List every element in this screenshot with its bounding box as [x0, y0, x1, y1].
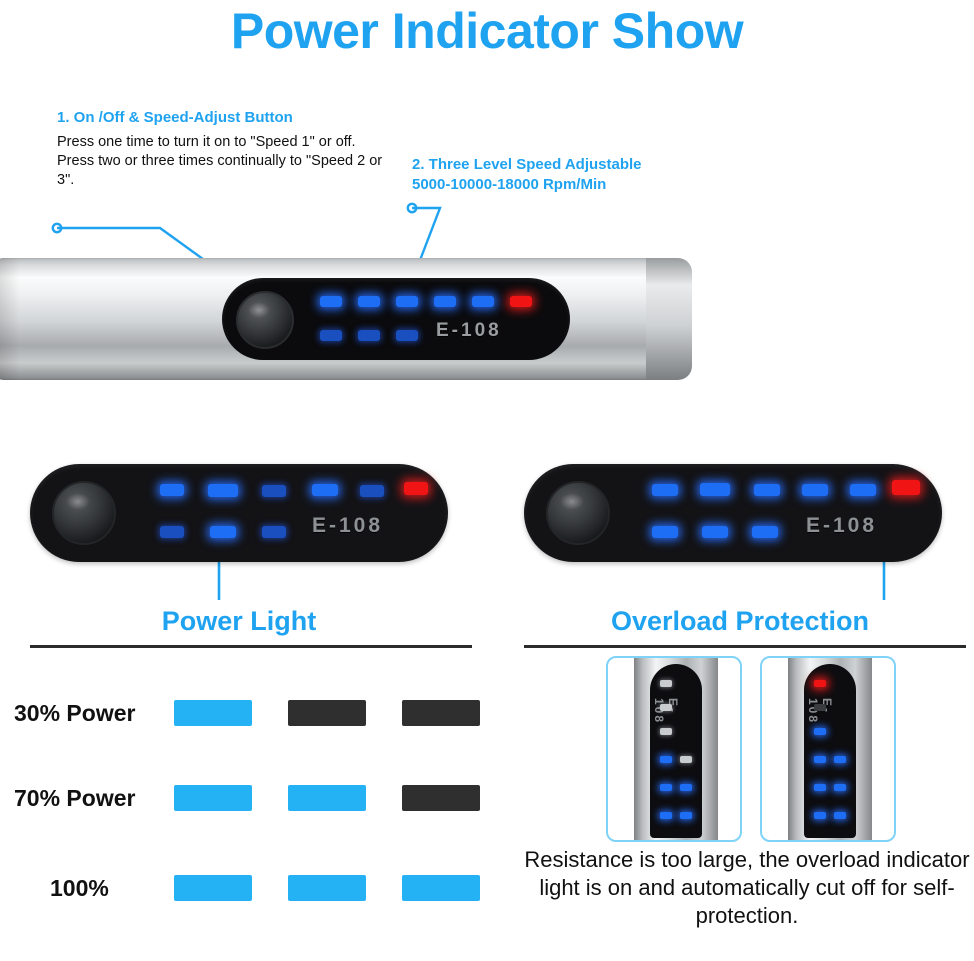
led-bottom-1: [320, 330, 342, 341]
model-label-right: E-108: [806, 514, 877, 538]
led-overload-indicator: [510, 296, 532, 307]
callout-1-heading: 1. On /Off & Speed-Adjust Button: [57, 108, 293, 128]
tube-left-dot-4: [660, 756, 672, 763]
power-button-right[interactable]: [546, 481, 610, 545]
power-button-large[interactable]: [236, 291, 294, 349]
led-top-2: [358, 296, 380, 307]
power-bar-2-1: [288, 875, 366, 901]
device-photo-large: E-108: [0, 246, 700, 396]
control-panel-left: E-108: [30, 464, 448, 562]
tube-right-dot-4: [814, 756, 826, 763]
led-right-top-1: [652, 484, 678, 496]
power-row-label-0: 30% Power: [14, 700, 135, 727]
divider-left: [30, 645, 472, 648]
tube-model-label-right: E-108: [806, 698, 834, 724]
led-left-bottom-1: [160, 526, 184, 538]
model-label-left: E-108: [312, 514, 383, 538]
tube-right-overload-dot: [814, 680, 826, 687]
power-bar-0-2: [402, 700, 480, 726]
overload-caption: Resistance is too large, the overload in…: [520, 846, 974, 930]
led-left-bottom-3: [262, 526, 286, 538]
tube-left-dot-7: [680, 784, 692, 791]
led-right-bottom-1: [652, 526, 678, 538]
led-right-top-4: [802, 484, 828, 496]
power-bar-0-0: [174, 700, 252, 726]
control-panel-right: E-108: [524, 464, 942, 562]
power-button-left[interactable]: [52, 481, 116, 545]
divider-right: [524, 645, 966, 648]
led-right-bottom-2: [702, 526, 728, 538]
power-light-heading: Power Light: [30, 606, 448, 637]
led-right-top-5: [850, 484, 876, 496]
led-bottom-3: [396, 330, 418, 341]
control-panel-large: E-108: [222, 278, 570, 360]
led-left-top-3: [262, 485, 286, 497]
led-right-top-2: [700, 483, 730, 496]
tube-face-right: E-108: [804, 664, 856, 838]
tube-left-dot-2: [660, 704, 672, 711]
led-left-top-2: [208, 484, 238, 497]
tube-face-left: E-108: [650, 664, 702, 838]
tube-body-left: E-108: [634, 658, 718, 842]
model-label-large: E-108: [436, 320, 502, 342]
tube-right-dot-3: [814, 728, 826, 735]
tube-left-dot-9: [680, 812, 692, 819]
led-top-3: [396, 296, 418, 307]
led-left-bottom-2: [210, 526, 236, 538]
power-bar-1-2: [402, 785, 480, 811]
led-right-bottom-3: [752, 526, 778, 538]
tube-right-dot-9: [834, 812, 846, 819]
overload-photo-triggered: E-108: [760, 656, 896, 842]
tube-left-dot-8: [660, 812, 672, 819]
led-bottom-2: [358, 330, 380, 341]
power-bar-1-1: [288, 785, 366, 811]
tube-left-dot-1: [660, 680, 672, 687]
page-title: Power Indicator Show: [0, 2, 974, 60]
led-left-top-5: [360, 485, 384, 497]
callout-1-body: Press one time to turn it on to "Speed 1…: [57, 133, 387, 190]
overload-photo-normal: E-108: [606, 656, 742, 842]
tube-left-dot-3: [660, 728, 672, 735]
tube-right-dot-7: [834, 784, 846, 791]
led-left-overload: [404, 482, 428, 495]
tube-right-dot-2: [814, 704, 826, 711]
power-bar-0-1: [288, 700, 366, 726]
led-top-1: [320, 296, 342, 307]
tube-left-dot-5: [680, 756, 692, 763]
tube-body-right: E-108: [788, 658, 872, 842]
power-bar-2-2: [402, 875, 480, 901]
tube-right-dot-5: [834, 756, 846, 763]
led-right-overload: [892, 480, 920, 495]
tube-right-dot-6: [814, 784, 826, 791]
led-left-top-1: [160, 484, 184, 496]
led-top-5: [472, 296, 494, 307]
led-right-top-3: [754, 484, 780, 496]
power-bar-2-0: [174, 875, 252, 901]
tube-model-label-left: E-108: [652, 698, 680, 724]
led-left-top-4: [312, 484, 338, 496]
led-top-4: [434, 296, 456, 307]
overload-heading: Overload Protection: [524, 606, 956, 637]
callout-2-heading: 2. Three Level Speed Adjustable 5000-100…: [412, 155, 742, 196]
power-row-label-1: 70% Power: [14, 785, 135, 812]
pen-body-shading: [0, 258, 20, 380]
power-bar-1-0: [174, 785, 252, 811]
tube-right-dot-8: [814, 812, 826, 819]
tube-left-dot-6: [660, 784, 672, 791]
power-indicator-infographic: Power Indicator Show 1. On /Off & Speed-…: [0, 0, 974, 961]
power-row-label-2: 100%: [50, 875, 109, 902]
